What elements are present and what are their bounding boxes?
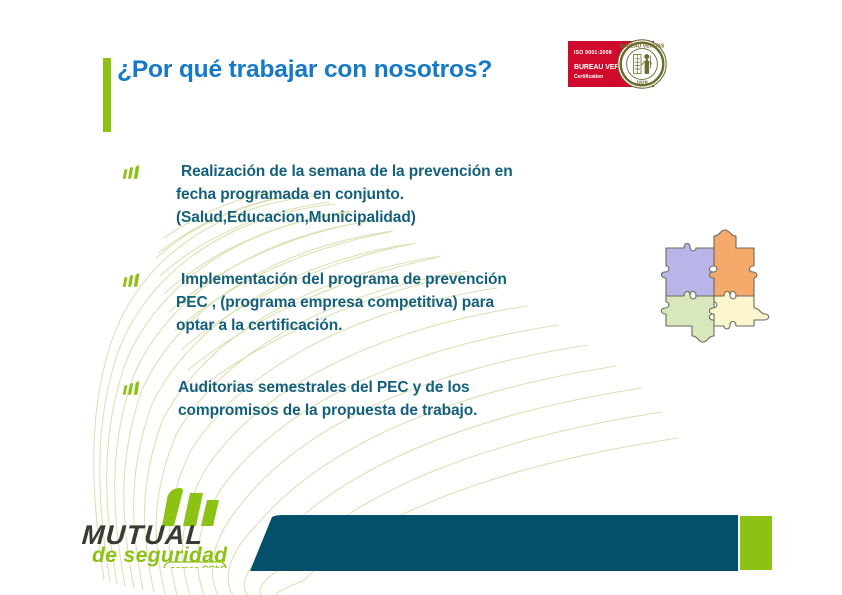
svg-text:BUREAU VERITAS: BUREAU VERITAS	[620, 44, 666, 50]
mutual-affiliation-badge: somos CChC	[164, 562, 227, 568]
bullet-line: (Salud,Educacion,Municipalidad)	[176, 209, 416, 226]
bullet-line: Auditorias semestrales del PEC y de los	[178, 379, 470, 396]
bullet-line: compromisos de la propuesta de trabajo.	[178, 402, 477, 419]
svg-text:somos CChC: somos CChC	[170, 564, 227, 568]
bullet-text: Auditorias semestrales del PEC y de los …	[178, 376, 658, 422]
footer-accent-square	[740, 516, 772, 570]
bullet-line: Implementación del programa de prevenció…	[181, 271, 507, 288]
footer-band	[250, 515, 738, 571]
iso-standard-label: ISO 9001:2008	[574, 50, 612, 56]
title-accent-bar	[103, 58, 111, 132]
bureau-veritas-iso-badge: ISO 9001:2008 BUREAU VERITAS Certificati…	[568, 38, 678, 90]
mutual-triple-bar-bullet-icon	[122, 271, 148, 289]
bullet-line: Realización de la semana de la prevenció…	[181, 163, 513, 180]
certification-label: Certification	[574, 74, 603, 80]
four-piece-puzzle-illustration	[650, 220, 776, 346]
svg-text:1828: 1828	[636, 81, 647, 87]
page-title: ¿Por qué trabajar con nosotros?	[117, 56, 492, 84]
bullet-text: Realización de la semana de la prevenció…	[176, 160, 656, 229]
mutual-de-seguridad-logo: MUTUAL de seguridad somos CChC	[78, 478, 243, 568]
mutual-triple-bar-bullet-icon	[122, 379, 148, 397]
bullet-line: optar a la certificación.	[176, 317, 342, 334]
bullet-line: PEC , (programa empresa competitiva) par…	[176, 294, 494, 311]
mutual-triple-bar-bullet-icon	[122, 163, 148, 181]
bullet-line: fecha programada en conjunto.	[176, 186, 404, 203]
slide-canvas: ¿Por qué trabajar con nosotros? ISO 9001…	[0, 0, 842, 595]
bureau-veritas-seal-icon: BUREAU VERITAS 1828	[616, 38, 668, 90]
bullet-text: Implementación del programa de prevenció…	[176, 268, 656, 337]
